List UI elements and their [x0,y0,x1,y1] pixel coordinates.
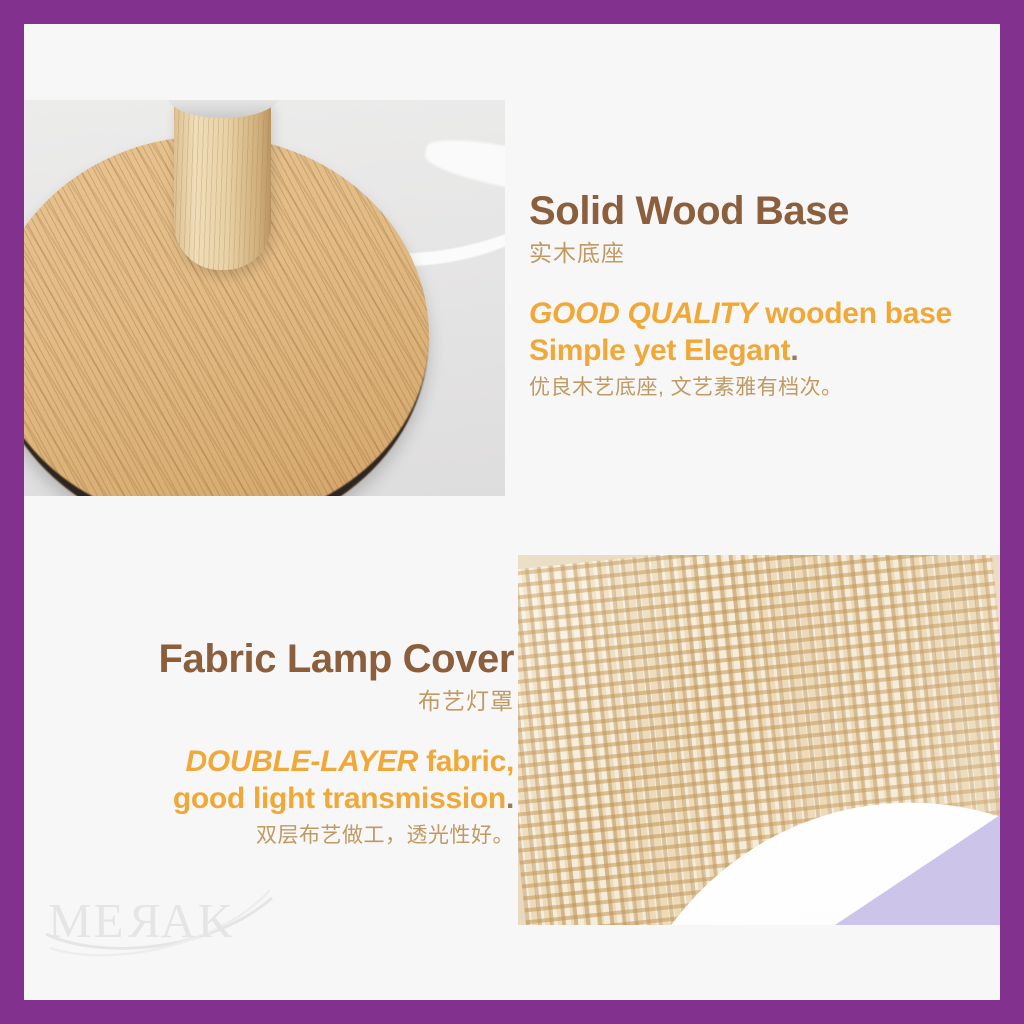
promo-line2-wood: Simple yet Elegant [529,334,790,367]
wooden-post [174,100,271,270]
feature-headline-wood: Solid Wood Base [529,190,1000,232]
solid-wood-base-photo [24,100,505,496]
feature-subhead-chinese-wood: 实木底座 [529,236,1000,271]
merak-watermark: MERAK [40,876,280,962]
fabric-lamp-cover-photo [518,555,1000,925]
product-infographic-poster: Solid Wood Base 实木底座 GOOD QUALITY wooden… [0,0,1024,1024]
promo-emphasis-fabric: DOUBLE-LAYER [186,745,419,778]
feature-note-chinese-fabric: 双层布艺做工，透光性好。 [44,821,514,851]
promo-period-wood: . [790,334,798,367]
promo-emphasis-wood: GOOD QUALITY [529,297,757,330]
watermark-text-flipped: R [126,892,161,949]
promo-line2-fabric: good light transmission [173,782,506,815]
watermark-text-before: ME [48,893,126,948]
watermark-text-after: AK [160,893,235,948]
feature-note-chinese-wood: 优良木艺底座, 文艺素雅有档次。 [529,373,1000,403]
poster-canvas: Solid Wood Base 实木底座 GOOD QUALITY wooden… [24,24,1000,1000]
feature-promo-wood: GOOD QUALITY wooden base Simple yet Eleg… [529,295,1000,370]
solid-wood-base-text-block: Solid Wood Base 实木底座 GOOD QUALITY wooden… [529,190,1000,403]
fabric-lamp-cover-text-block: Fabric Lamp Cover 布艺灯罩 DOUBLE-LAYER fabr… [44,638,514,851]
watermark-text: MERAK [48,892,235,949]
feature-promo-fabric: DOUBLE-LAYER fabric, good light transmis… [44,743,514,818]
feature-subhead-chinese-fabric: 布艺灯罩 [44,684,514,719]
feature-headline-fabric: Fabric Lamp Cover [44,638,514,680]
promo-period-fabric: . [506,782,514,815]
watermark-swoosh-icon [40,876,280,962]
promo-rest-wood: wooden base [757,297,952,330]
promo-rest-fabric: fabric, [418,745,514,778]
